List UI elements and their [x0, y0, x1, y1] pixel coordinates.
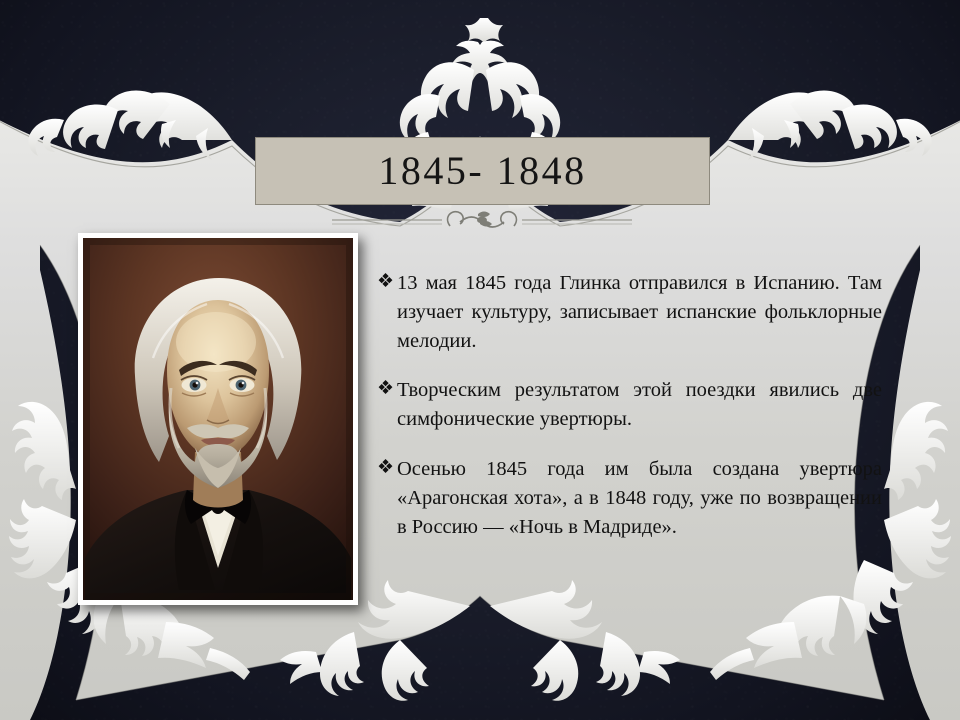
- portrait-frame: [78, 233, 358, 605]
- title-plaque: 1845- 1848: [255, 137, 710, 205]
- bullet-paragraph-text: Осенью 1845 года им была создана увертюр…: [397, 458, 882, 538]
- bullet-paragraph: ❖ 13 мая 1845 года Глинка отправился в И…: [377, 269, 882, 356]
- bullet-paragraph-text: Творческим результатом этой поездки явил…: [397, 379, 882, 430]
- body-text: ❖ 13 мая 1845 года Глинка отправился в И…: [377, 248, 882, 542]
- portrait-image-glinka: [83, 238, 353, 600]
- page-title: 1845- 1848: [378, 151, 586, 191]
- diamond-cluster-bullet-icon: ❖: [377, 375, 394, 403]
- slide: 1845- 1848: [0, 0, 960, 720]
- portrait-artwork: [83, 238, 353, 600]
- title-divider-flourish: [332, 206, 632, 236]
- bullet-paragraph: ❖ Осенью 1845 года им была создана уверт…: [377, 455, 882, 542]
- diamond-cluster-bullet-icon: ❖: [377, 454, 394, 482]
- bullet-paragraph: ❖ Творческим результатом этой поездки яв…: [377, 376, 882, 434]
- diamond-cluster-bullet-icon: ❖: [377, 268, 394, 296]
- bullet-paragraph-text: 13 мая 1845 года Глинка отправился в Исп…: [397, 272, 882, 352]
